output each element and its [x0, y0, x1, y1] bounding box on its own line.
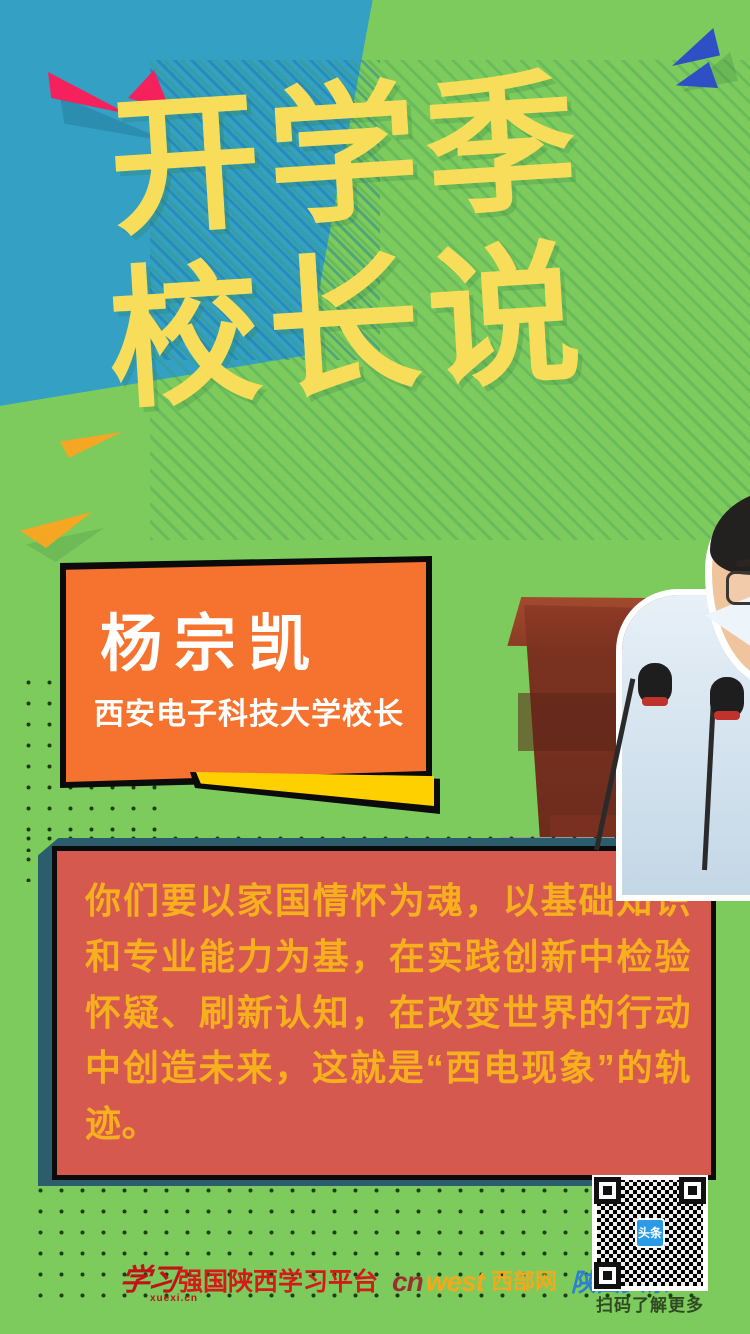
quote-card: 你们要以家国情怀为魂，以基础知识和专业能力为基，在实践创新中检验怀疑、刷新认知，…	[52, 846, 716, 1180]
speaker-name: 杨宗凯	[100, 614, 322, 676]
qr-center-logo-icon: 头条	[635, 1218, 665, 1248]
logo-xuexi-script-text: 学习	[118, 1266, 178, 1296]
qr-block: 头条 扫码了解更多	[578, 1175, 722, 1314]
microphone-right-ring	[714, 711, 740, 720]
logo-cn-text: cn	[392, 1268, 423, 1296]
microphone-left-ring	[642, 697, 668, 706]
glasses-lens-left	[726, 571, 750, 605]
speaker-name-card: 杨宗凯 西安电子科技大学校长	[66, 562, 426, 782]
qr-finder-top-right	[679, 1177, 706, 1204]
logo-cnwest[interactable]: cn west 西部网	[392, 1268, 557, 1296]
quote-text: 你们要以家国情怀为魂，以基础知识和专业能力为基，在实践创新中检验怀疑、刷新认知，…	[85, 873, 691, 1152]
speaker-role: 西安电子科技大学校长	[94, 700, 404, 730]
logo-xuexi-block-text: 强国陕西学习平台xuexi.cn	[178, 1270, 378, 1295]
qr-caption: 扫码了解更多	[578, 1297, 722, 1314]
qr-code[interactable]: 头条	[592, 1175, 708, 1291]
qr-finder-top-left	[594, 1177, 621, 1204]
poster-root: 开学季 校长说	[0, 0, 750, 1334]
logo-xuexi-url-text: xuexi.cn	[150, 1294, 198, 1304]
qr-finder-bottom-left	[594, 1262, 621, 1289]
logo-xibuwang-text: 西部网	[491, 1271, 557, 1293]
glasses-icon	[726, 571, 750, 607]
logo-xuexi-qiangguo[interactable]: 学习 强国陕西学习平台xuexi.cn	[120, 1266, 378, 1296]
logo-west-text: west	[426, 1268, 484, 1296]
footer: 学习 强国陕西学习平台xuexi.cn cn west 西部网 陕西头条 头条 …	[0, 1214, 750, 1334]
